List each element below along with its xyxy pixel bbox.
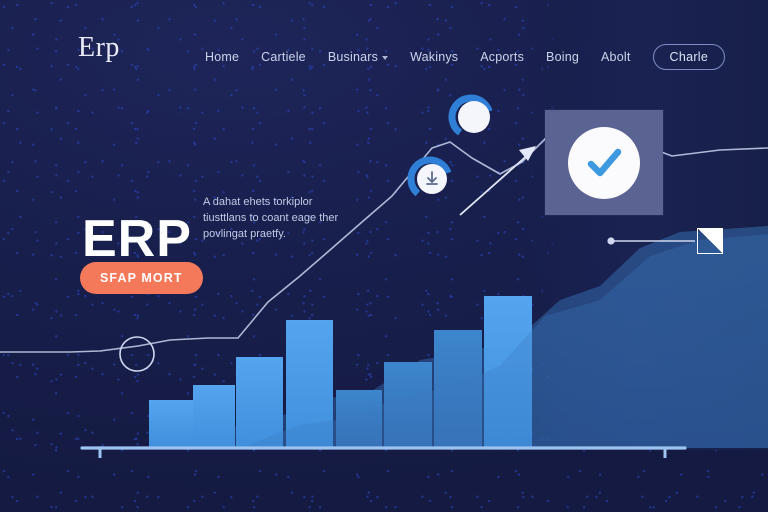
hero-paragraph: A dahat ehets torkiplor tiusttlans to co… — [203, 195, 353, 243]
brand-logo[interactable]: Erp — [78, 32, 120, 64]
nav-item-boing[interactable]: Boing — [546, 50, 579, 64]
nav-item-label: Cartiele — [261, 50, 306, 64]
top-navbar: Erp Home Cartiele Businars Wakinys Acpor… — [0, 36, 768, 76]
check-icon — [581, 140, 627, 186]
nav-item-label: Boing — [546, 50, 579, 64]
nav-item-label: Abolt — [601, 50, 631, 64]
baseline-axis — [82, 448, 685, 458]
nav-item-abolt[interactable]: Abolt — [601, 50, 631, 64]
donut-chart-icon — [447, 93, 495, 141]
nav-item-label: Home — [205, 50, 239, 64]
nav-item-home[interactable]: Home — [205, 50, 239, 64]
feature-card[interactable] — [545, 110, 663, 215]
nav-links: Home Cartiele Businars Wakinys Acports B… — [205, 44, 725, 70]
nav-item-cartiele[interactable]: Cartiele — [261, 50, 306, 64]
nav-item-label: Acports — [480, 50, 524, 64]
hero-illustration: Erp Home Cartiele Businars Wakinys Acpor… — [0, 0, 768, 512]
check-badge — [568, 127, 640, 199]
hero-cta-button[interactable]: SFAP MORT — [80, 262, 203, 294]
download-ring-icon — [406, 155, 454, 203]
nav-item-acports[interactable]: Acports — [480, 50, 524, 64]
nav-cta-button[interactable]: Charle — [653, 44, 726, 70]
image-placeholder-icon[interactable] — [697, 228, 723, 254]
nav-item-wakinys[interactable]: Wakinys — [410, 50, 458, 64]
nav-item-label: Businars — [328, 50, 378, 64]
growth-arrow-icon — [460, 146, 536, 215]
chevron-down-icon — [382, 56, 388, 60]
bar-2 — [193, 385, 235, 448]
line-node-icon — [120, 337, 154, 371]
page-title: ERP — [82, 213, 192, 265]
nav-item-businars[interactable]: Businars — [328, 50, 388, 64]
nav-item-label: Wakinys — [410, 50, 458, 64]
bar-1 — [149, 400, 193, 448]
